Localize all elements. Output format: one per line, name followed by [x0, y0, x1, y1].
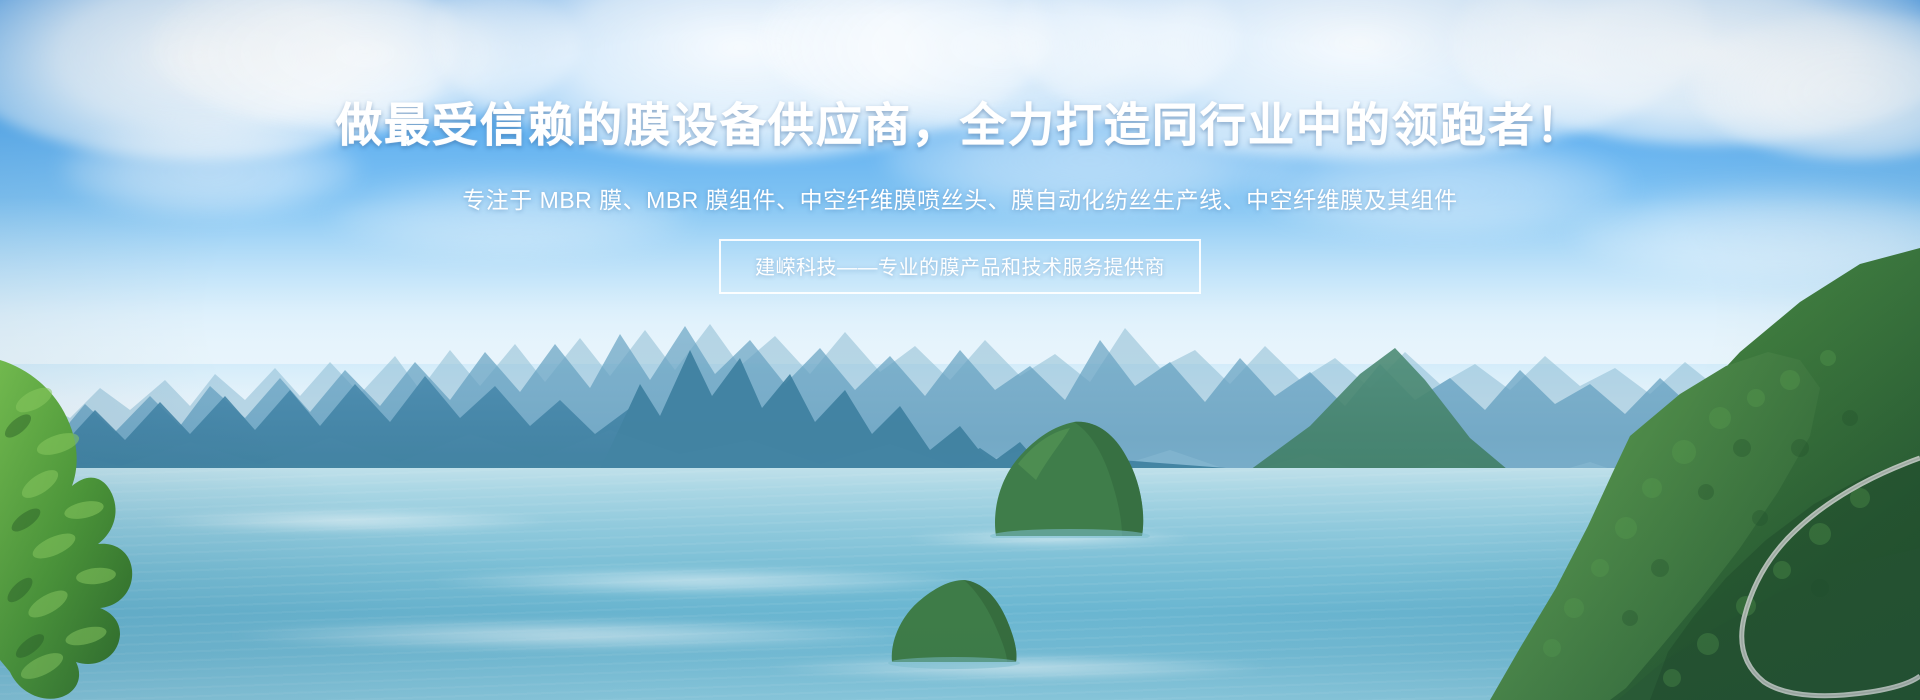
tagline-box: 建嵘科技——专业的膜产品和技术服务提供商	[719, 239, 1201, 294]
hero-subtitle: 专注于 MBR 膜、MBR 膜组件、中空纤维膜喷丝头、膜自动化纺丝生产线、中空纤…	[462, 181, 1457, 215]
hero-text-overlay: 做最受信赖的膜设备供应商，全力打造同行业中的领跑者！ 专注于 MBR 膜、MBR…	[0, 0, 1920, 700]
page-title: 做最受信赖的膜设备供应商，全力打造同行业中的领跑者！	[336, 100, 1584, 151]
tagline-text: 建嵘科技——专业的膜产品和技术服务提供商	[755, 257, 1165, 279]
hero-banner: 做最受信赖的膜设备供应商，全力打造同行业中的领跑者！ 专注于 MBR 膜、MBR…	[0, 0, 1920, 700]
